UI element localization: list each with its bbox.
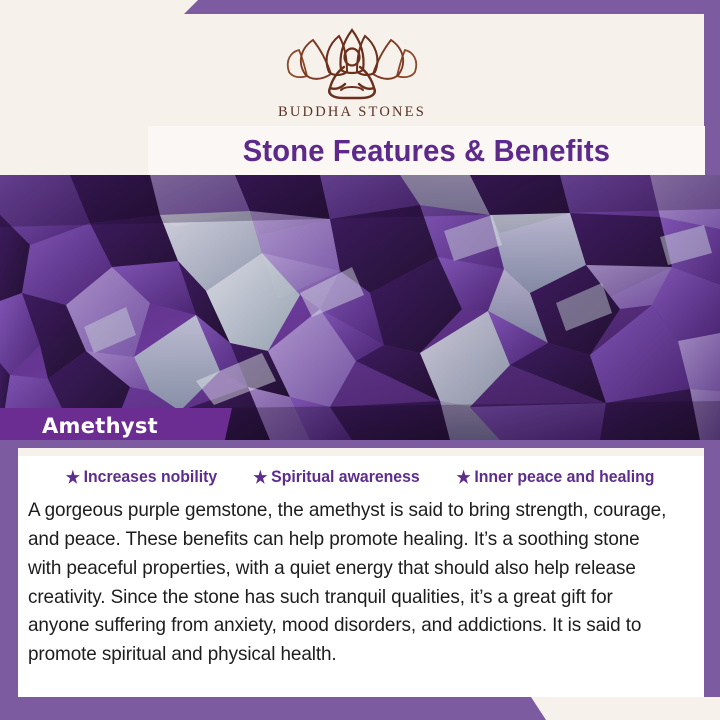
product-feature-card: BUDDHA STONES Stone Features & Benefits — [0, 0, 720, 720]
star-icon: ★ — [253, 469, 267, 486]
brand-name: BUDDHA STONES — [0, 104, 704, 121]
star-icon: ★ — [457, 469, 471, 486]
benefit-label: Increases nobility — [83, 467, 217, 487]
description-card: ★ Increases nobility ★ Spiritual awarene… — [18, 448, 704, 697]
benefit-label: Spiritual awareness — [271, 467, 420, 487]
amethyst-crystal-cluster-photo — [0, 175, 720, 440]
benefit-label: Inner peace and healing — [475, 467, 655, 487]
section-title-band: Stone Features & Benefits — [148, 126, 705, 175]
card-top-strip — [18, 448, 704, 456]
benefit-item: ★ Inner peace and healing — [457, 467, 655, 487]
brand-logo: BUDDHA STONES — [0, 26, 704, 121]
stone-name-banner: Amethyst — [0, 408, 232, 444]
star-icon: ★ — [65, 469, 79, 486]
top-accent-band — [0, 0, 720, 14]
stone-photo — [0, 175, 720, 440]
page-title: Stone Features & Benefits — [243, 133, 610, 169]
bottom-frame-corner-fill — [546, 700, 720, 720]
benefit-item: ★ Spiritual awareness — [253, 467, 419, 487]
benefit-item: ★ Increases nobility — [65, 467, 216, 487]
benefits-list: ★ Increases nobility ★ Spiritual awarene… — [18, 467, 704, 487]
stone-name: Amethyst — [42, 414, 158, 438]
stone-description: A gorgeous purple gemstone, the amethyst… — [28, 496, 676, 669]
lotus-meditation-icon — [277, 26, 427, 102]
